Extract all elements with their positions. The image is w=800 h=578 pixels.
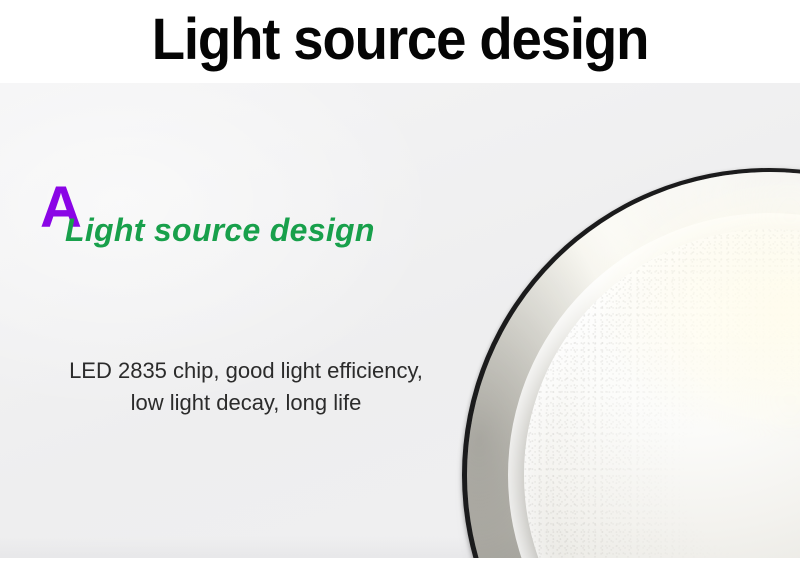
body-copy-line: LED 2835 chip, good light efficiency,: [6, 355, 486, 387]
body-copy-line: low light decay, long life: [6, 387, 486, 419]
panel-text-layer: A Light source design LED 2835 chip, goo…: [0, 83, 800, 558]
content-panel: A Light source design LED 2835 chip, goo…: [0, 83, 800, 558]
section-subtitle: Light source design: [65, 210, 375, 250]
page-title: Light source design: [24, 4, 776, 76]
title-band: Light source design: [0, 0, 800, 83]
product-feature-slide: Light source design A Light source desig…: [0, 0, 800, 578]
section-body-copy: LED 2835 chip, good light efficiency, lo…: [6, 355, 486, 419]
